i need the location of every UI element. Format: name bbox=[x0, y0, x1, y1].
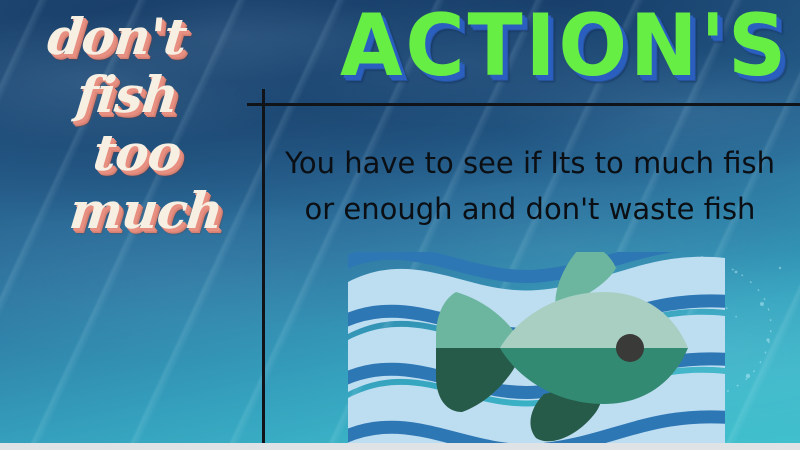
horizontal-divider bbox=[247, 103, 800, 106]
fish-in-waves-icon bbox=[348, 252, 725, 443]
body-text-line-2: or enough and don't waste fish bbox=[268, 186, 792, 232]
script-headline-line-1: don't bbox=[0, 8, 243, 66]
script-headline-line-4: much bbox=[49, 182, 243, 240]
page-title: ACTION'S bbox=[340, 0, 789, 98]
fish-eye bbox=[616, 334, 644, 362]
vertical-divider bbox=[262, 89, 265, 443]
body-text-line-1: You have to see if Its to much fish bbox=[268, 140, 792, 186]
body-text: You have to see if Its to much fish or e… bbox=[268, 140, 792, 232]
fish-illustration bbox=[348, 252, 725, 443]
script-headline-line-2: fish bbox=[11, 66, 243, 124]
script-headline-line-3: too bbox=[31, 124, 243, 182]
bottom-bar bbox=[0, 443, 800, 450]
script-headline: don't fish too much bbox=[0, 8, 240, 240]
poster-canvas: don't fish too much ACTION'S You have to… bbox=[0, 0, 800, 450]
